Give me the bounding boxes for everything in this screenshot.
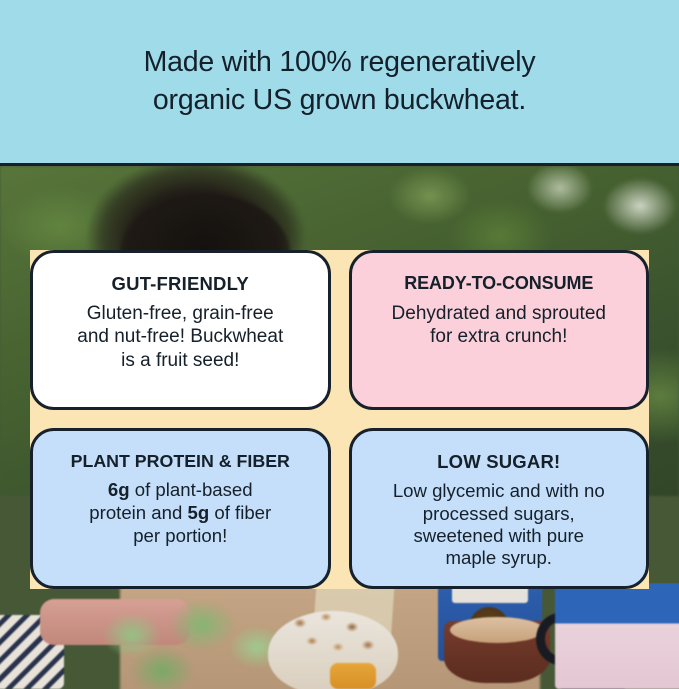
benefit-card-low-sugar: LOW SUGAR! Low glycemic and with no proc… xyxy=(349,428,650,589)
benefit-card-gut-friendly: GUT-FRIENDLY Gluten-free, grain-free and… xyxy=(30,250,331,410)
card-body: Low glycemic and with no processed sugar… xyxy=(393,480,605,569)
card-title: GUT-FRIENDLY xyxy=(112,273,249,294)
card-body: Gluten-free, grain-free and nut-free! Bu… xyxy=(77,302,283,372)
leafy-greens xyxy=(92,595,292,689)
card-body: 6g of plant-based protein and 5g of fibe… xyxy=(89,479,271,547)
coffee-foam xyxy=(450,617,544,643)
header-band: Made with 100% regeneratively organic US… xyxy=(0,0,679,166)
clusterbuck-package xyxy=(555,583,679,689)
page-title: Made with 100% regeneratively organic US… xyxy=(104,44,576,118)
granola-clusters xyxy=(282,607,388,661)
card-body: Dehydrated and sprouted for extra crunch… xyxy=(392,302,606,348)
mango-slice xyxy=(330,663,376,689)
benefit-card-ready-to-consume: READY-TO-CONSUME Dehydrated and sprouted… xyxy=(349,250,650,410)
benefit-card-grid: GUT-FRIENDLY Gluten-free, grain-free and… xyxy=(30,250,649,589)
card-title: LOW SUGAR! xyxy=(437,451,560,472)
card-title: READY-TO-CONSUME xyxy=(404,273,593,294)
infographic-page: Made with 100% regeneratively organic US… xyxy=(0,0,679,689)
benefit-card-plant-protein-fiber: PLANT PROTEIN & FIBER 6g of plant-based … xyxy=(30,428,331,589)
food-scene xyxy=(0,583,679,689)
card-title: PLANT PROTEIN & FIBER xyxy=(71,451,290,471)
